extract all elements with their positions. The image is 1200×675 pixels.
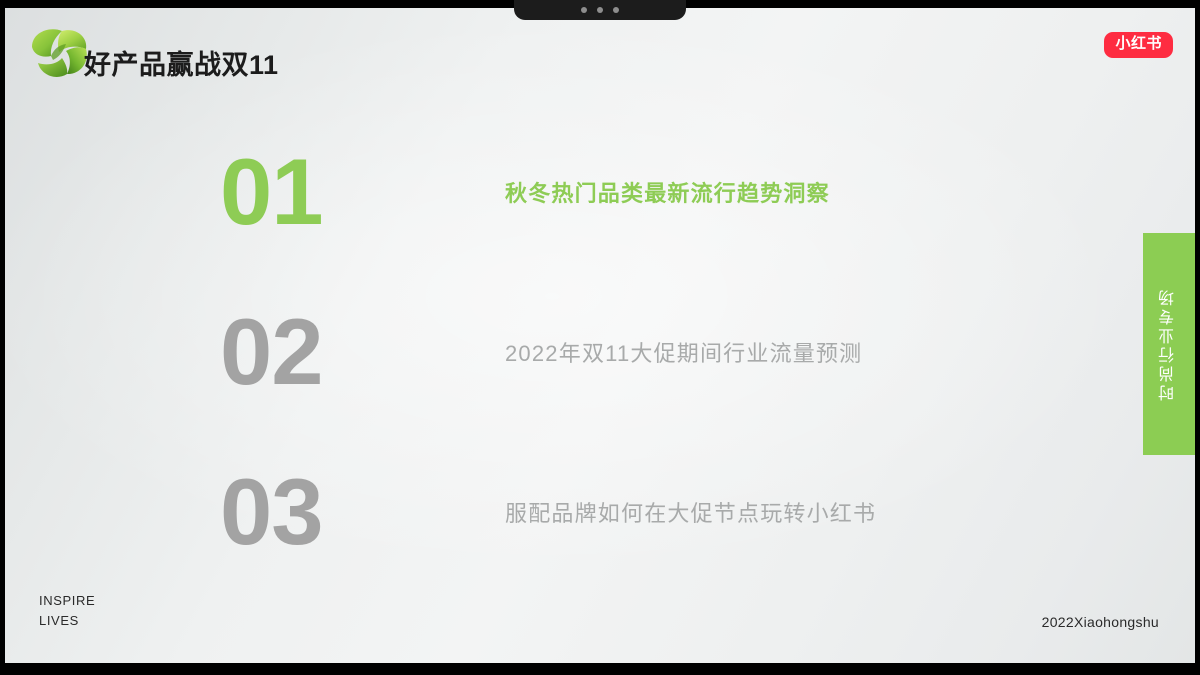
page-title: 好产品赢战双11 [84, 43, 279, 82]
agenda-label: 服配品牌如何在大促节点玩转小红书 [505, 496, 876, 528]
screen-frame: 好产品赢战双11 小红书 01 秋冬热门品类最新流行趋势洞察 02 2022年双… [0, 0, 1200, 675]
agenda-item-01[interactable]: 01 秋冬热门品类最新流行趋势洞察 [5, 112, 1195, 272]
agenda-label: 秋冬热门品类最新流行趋势洞察 [505, 176, 830, 208]
side-tab-label: 时尚行业专场 [1157, 287, 1181, 401]
device-camera-notch [514, 0, 686, 20]
agenda-list: 01 秋冬热门品类最新流行趋势洞察 02 2022年双11大促期间行业流量预测 … [5, 112, 1195, 592]
agenda-item-02[interactable]: 02 2022年双11大促期间行业流量预测 [5, 272, 1195, 432]
footer-copyright: 2022Xiaohongshu [1042, 614, 1159, 630]
xiaohongshu-brand-badge: 小红书 [1104, 32, 1173, 58]
tagline-line-1: INSPIRE [39, 591, 95, 611]
agenda-label: 2022年双11大促期间行业流量预测 [505, 336, 862, 368]
notch-dot-icon [613, 7, 619, 13]
agenda-item-03[interactable]: 03 服配品牌如何在大促节点玩转小红书 [5, 432, 1195, 592]
footer-tagline: INSPIRE LIVES [39, 591, 95, 631]
notch-dot-icon [597, 7, 603, 13]
agenda-number: 03 [220, 465, 323, 559]
agenda-number: 01 [220, 145, 323, 239]
side-tab-industry[interactable]: 时尚行业专场 [1143, 233, 1195, 455]
tagline-line-2: LIVES [39, 611, 95, 631]
slide-header: 好产品赢战双11 小红书 [5, 8, 1195, 94]
presentation-slide: 好产品赢战双11 小红书 01 秋冬热门品类最新流行趋势洞察 02 2022年双… [5, 8, 1195, 663]
agenda-number: 02 [220, 305, 323, 399]
notch-dot-icon [581, 7, 587, 13]
